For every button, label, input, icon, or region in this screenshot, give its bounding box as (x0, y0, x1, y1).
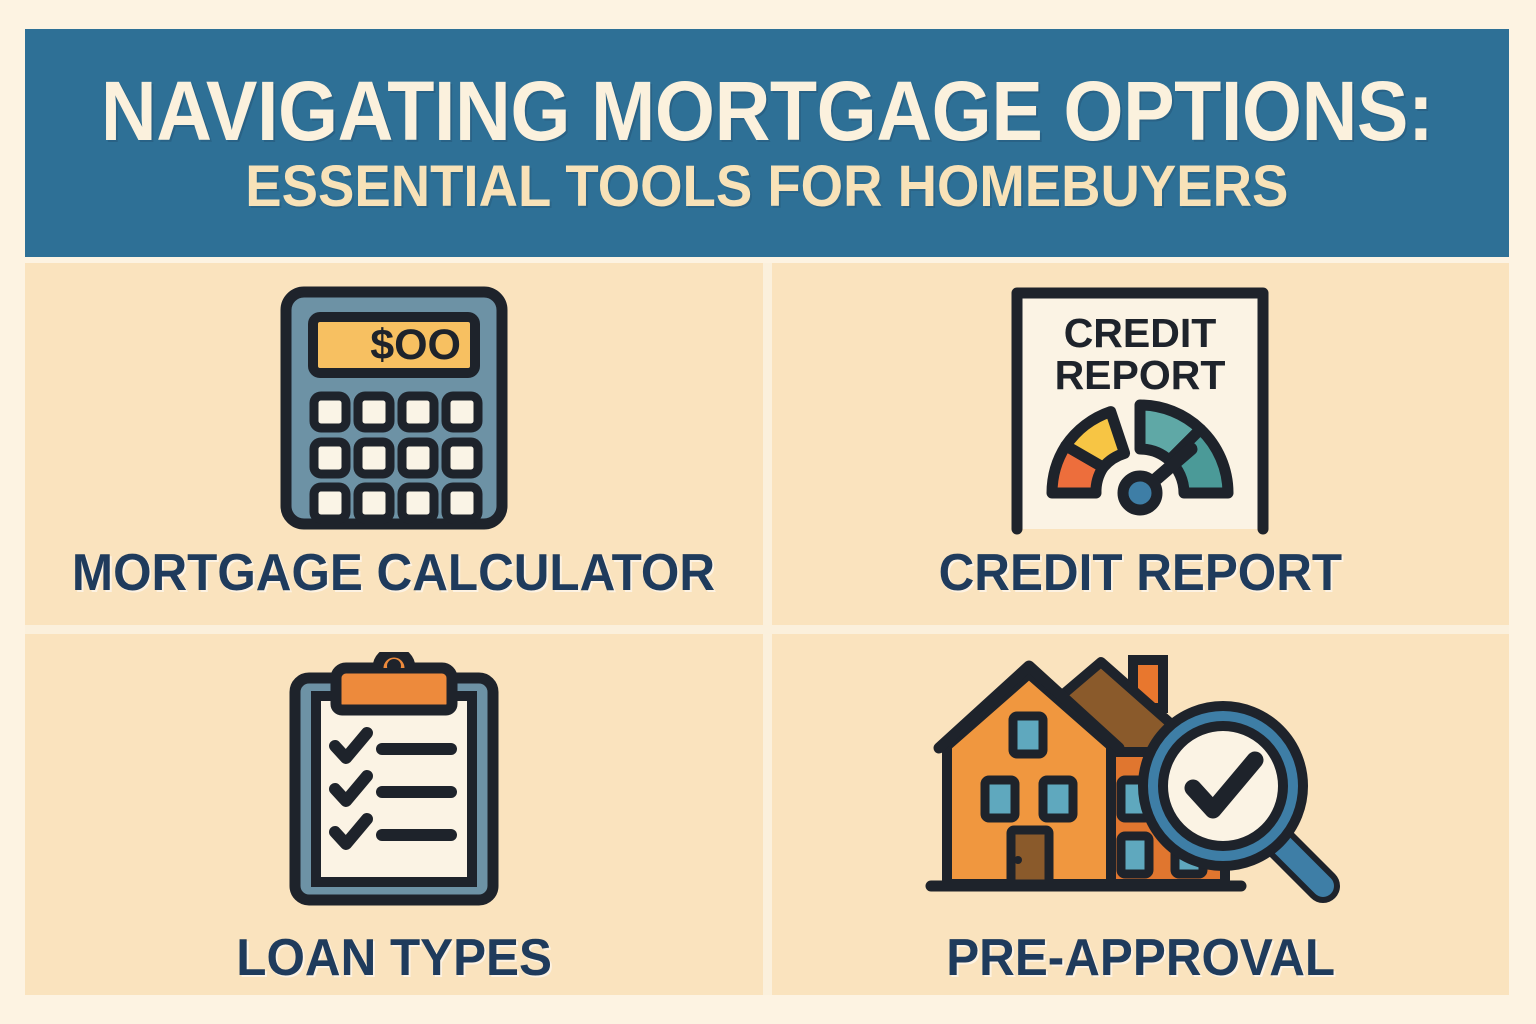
window-attic (1013, 716, 1043, 754)
document-title-line1: CREDIT (1064, 310, 1217, 356)
window-wing-lower (1121, 836, 1149, 874)
cell-mortgage-calculator[interactable]: $OO (25, 263, 763, 625)
window-left (985, 780, 1015, 818)
document-title-line2: REPORT (1055, 352, 1226, 398)
page-subtitle: ESSENTIAL TOOLS FOR HOMEBUYERS (245, 158, 1288, 216)
label-credit-report: CREDIT REPORT (939, 547, 1342, 599)
calculator-display-text: $OO (370, 321, 461, 369)
infographic-poster: NAVIGATING MORTGAGE OPTIONS: ESSENTIAL T… (0, 0, 1536, 1024)
page-title: NAVIGATING MORTGAGE OPTIONS: (101, 70, 1433, 152)
label-mortgage-calculator: MORTGAGE CALCULATOR (72, 547, 715, 599)
door-knob (1014, 856, 1022, 864)
header-banner: NAVIGATING MORTGAGE OPTIONS: ESSENTIAL T… (25, 29, 1509, 257)
window-right (1043, 780, 1073, 818)
gauge-hub (1123, 476, 1157, 510)
feature-grid: $OO (25, 263, 1509, 995)
label-pre-approval: PRE-APPROVAL (946, 932, 1335, 984)
calculator-icon: $OO (277, 283, 511, 533)
clipboard-checklist-icon (283, 652, 505, 910)
credit-report-gauge-icon: CREDIT REPORT (995, 281, 1285, 535)
clipboard-clip (336, 668, 452, 710)
clipboard-clip-hole (387, 659, 401, 673)
label-loan-types: LOAN TYPES (236, 932, 552, 984)
pre-approval-icon-container (925, 642, 1355, 910)
clipboard-icon-container (283, 642, 505, 910)
cell-loan-types[interactable]: LOAN TYPES (25, 634, 763, 996)
house-magnifier-check-icon (925, 648, 1355, 910)
cell-credit-report[interactable]: CREDIT REPORT CREDIT REPORT (772, 263, 1510, 625)
calculator-icon-container: $OO (277, 279, 511, 537)
cell-pre-approval[interactable]: PRE-APPROVAL (772, 634, 1510, 996)
credit-report-icon-container: CREDIT REPORT (995, 279, 1285, 537)
